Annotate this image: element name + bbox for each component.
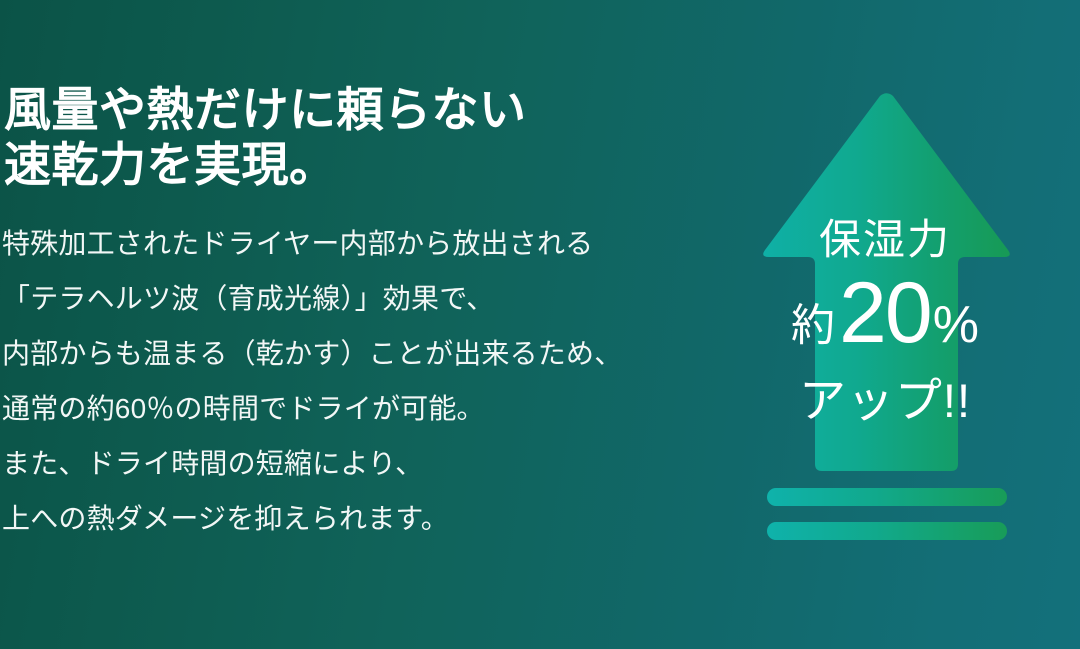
up-arrow-graphic: 保湿力 約 20 % アップ!! — [690, 80, 1080, 560]
headline: 風量や熱だけに頼らない 速乾力を実現。 — [4, 82, 694, 193]
arrow-trail-bar-2 — [767, 522, 1007, 540]
headline-line-1: 風量や熱だけに頼らない — [4, 82, 694, 137]
body-line-4: 通常の約60％の時間でドライが可能。 — [2, 381, 702, 436]
headline-line-2: 速乾力を実現。 — [4, 137, 694, 192]
body-line-5: また、ドライ時間の短縮により、 — [2, 436, 702, 491]
promo-banner: 風量や熱だけに頼らない 速乾力を実現。 特殊加工されたドライヤー内部から放出され… — [0, 0, 1080, 649]
body-line-6: 上への熱ダメージを抑えられます。 — [2, 491, 702, 546]
text-column: 風量や熱だけに頼らない 速乾力を実現。 特殊加工されたドライヤー内部から放出され… — [0, 0, 700, 649]
body-line-2: 「テラヘルツ波（育成光線）」効果で、 — [2, 271, 702, 326]
arrow-body — [763, 93, 1010, 471]
body-line-3: 内部からも温まる（乾かす）ことが出来るため、 — [2, 326, 702, 381]
body-line-1: 特殊加工されたドライヤー内部から放出される — [2, 216, 702, 271]
arrow-trail-bar-1 — [767, 488, 1007, 506]
up-arrow-icon — [690, 80, 1080, 560]
body-copy: 特殊加工されたドライヤー内部から放出される 「テラヘルツ波（育成光線）」効果で、… — [2, 216, 702, 546]
